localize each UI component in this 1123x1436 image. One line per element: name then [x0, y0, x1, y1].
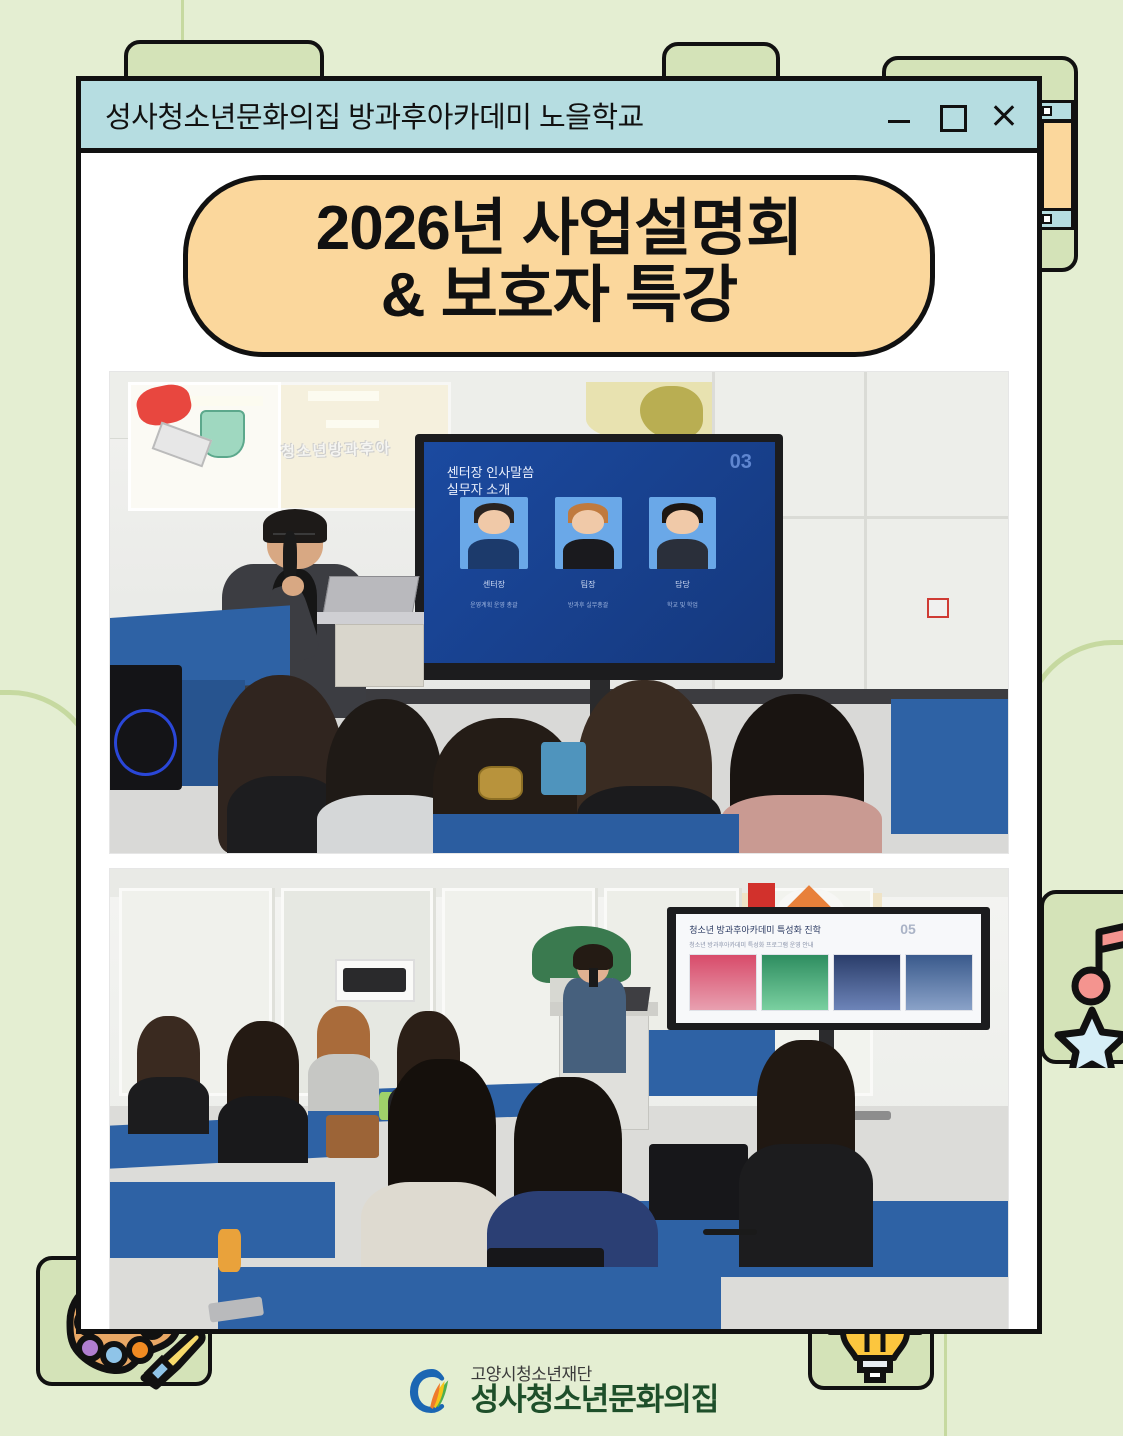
window-titlebar: 성사청소년문화의집 방과후아카데미 노을학교	[81, 81, 1037, 153]
photo1-hair-clip	[478, 766, 523, 800]
deco-card-music	[1040, 890, 1123, 1064]
photo2-slide-title: 청소년 방과후아카데미 특성화 진학	[689, 923, 821, 936]
photo1-avatar-2	[555, 497, 622, 569]
footer-logo: 고양시청소년재단 성사청소년문화의집	[0, 1364, 1123, 1418]
photo1-avatar-sub-3: 학교 및 학업	[649, 600, 716, 609]
window-title: 성사청소년문화의집 방과후아카데미 노을학교	[105, 94, 644, 136]
photo1-cup	[541, 742, 586, 795]
music-star-icon-group	[1044, 894, 1123, 1068]
photo2-microphone	[589, 968, 598, 987]
headline-banner: 2026년 사업설명회 & 보호자 특강	[183, 175, 935, 357]
photo2-slide-thumbnail	[833, 954, 901, 1011]
photo1-avatar-sub-1: 운영계획 운영 총괄	[460, 600, 527, 609]
photo2-slide-number: 05	[900, 921, 916, 937]
photo2-handbag	[326, 1115, 380, 1158]
photo1-avatar-1	[460, 497, 527, 569]
close-button[interactable]	[991, 103, 1015, 127]
photo2-presenter-body	[563, 978, 626, 1073]
footer-org-small: 고양시청소년재단	[471, 1366, 719, 1384]
photo2-cable-rack	[343, 968, 406, 992]
headline-line-1: 2026년 사업설명회	[218, 196, 900, 263]
minimize-button[interactable]	[887, 103, 911, 127]
marker-icon-hole-bottom	[1042, 214, 1052, 224]
marker-icon-hole-top	[1042, 106, 1052, 116]
photo1-wall-panel	[927, 598, 949, 618]
headline-line-2: & 보호자 특강	[218, 263, 900, 330]
photo1-avatar-3	[649, 497, 716, 569]
photo1-laptop	[322, 576, 419, 614]
photo1-avatar-role-1: 센터장	[460, 579, 527, 590]
window-content: 2026년 사업설명회 & 보호자 특강 청소년방과후아 센터장 인사말씀	[81, 153, 1037, 1329]
photo1-avatar-role-2: 팀장	[555, 579, 622, 590]
photo2-slide-thumbnail	[761, 954, 829, 1011]
photo1-slide-number: 03	[730, 451, 752, 474]
footer-org-name: 성사청소년문화의집	[471, 1384, 719, 1417]
maximize-button[interactable]	[939, 103, 963, 127]
photo2-chair	[649, 1144, 748, 1220]
photo2-bottle	[218, 1229, 241, 1272]
photo-presentation-program: 청소년방 청소년 방과후아카데미 특성화 진학 청소년 방과후아카데미 특성화 …	[109, 868, 1009, 1329]
photo2-slide-subtitle: 청소년 방과후아카데미 특성화 프로그램 운영 안내	[689, 940, 813, 949]
app-window: 성사청소년문화의집 방과후아카데미 노을학교 2026년 사업설명회 & 보호자…	[76, 76, 1042, 1334]
photo1-avatar-role-3: 담당	[649, 579, 716, 590]
photo1-wall-text: 청소년방과후아	[280, 437, 391, 462]
photo2-pen	[703, 1229, 757, 1235]
foundation-logo-icon	[405, 1364, 459, 1418]
photo-presentation-center-director: 청소년방과후아 센터장 인사말씀 실무자 소개 03	[109, 371, 1009, 854]
window-controls	[887, 103, 1015, 127]
photo1-avatar-sub-2: 방과후 실무총괄	[555, 600, 622, 609]
photo2-slide-thumbnail	[689, 954, 757, 1011]
photo2-slide-thumbnail	[905, 954, 973, 1011]
